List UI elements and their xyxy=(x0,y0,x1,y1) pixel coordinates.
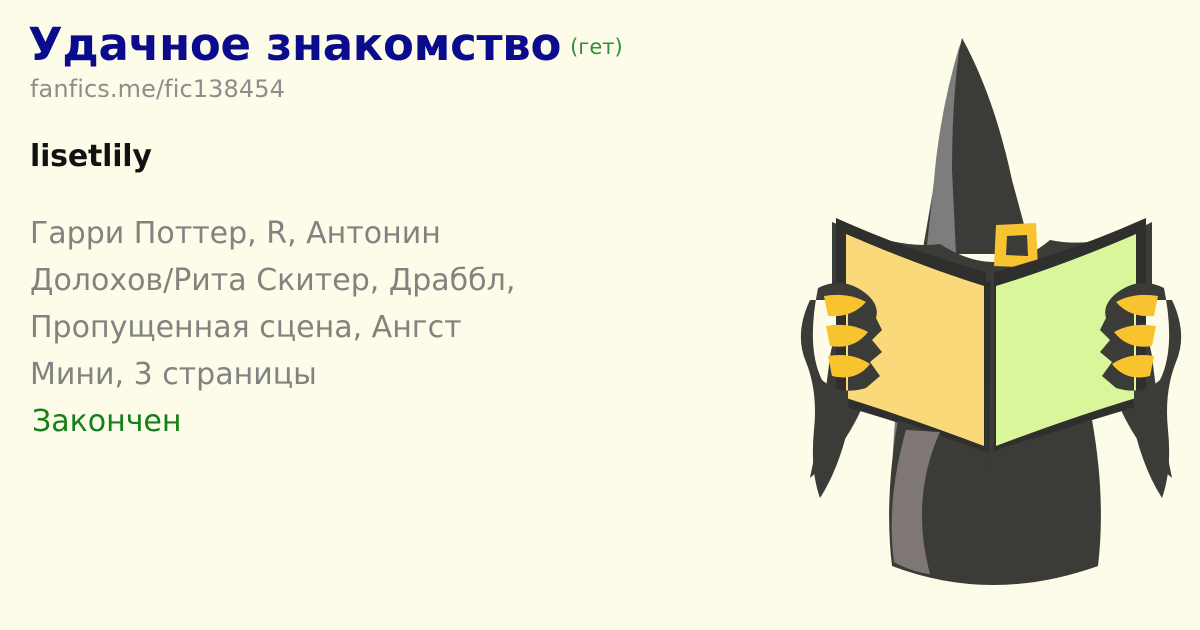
fic-category-label: (гет) xyxy=(570,35,623,59)
status-badge: Закончен xyxy=(32,398,768,445)
wizard-illustration-svg xyxy=(780,0,1200,630)
title-row: Удачное знакомство(гет) xyxy=(28,22,768,69)
page-title: Удачное знакомство xyxy=(28,18,561,71)
fic-meta-line: Пропущенная сцена, Ангст xyxy=(30,304,768,351)
hat-buckle-hole xyxy=(1006,235,1028,256)
wizard-reading-book-illustration xyxy=(780,0,1200,630)
fic-meta-line: Гарри Поттер, R, Антонин xyxy=(30,210,768,257)
hat-buckle-group xyxy=(994,223,1038,268)
fic-meta-line: Мини, 3 страницы xyxy=(30,351,768,398)
fic-metadata-block: Гарри Поттер, R, Антонин Долохов/Рита Ск… xyxy=(30,210,768,445)
fic-author-name[interactable]: lisetlily xyxy=(30,139,768,174)
fic-url[interactable]: fanfics.me/fic138454 xyxy=(30,75,768,103)
fic-meta-line: Долохов/Рита Скитер, Драббл, xyxy=(30,257,768,304)
fanfic-preview-card: Удачное знакомство(гет) fanfics.me/fic13… xyxy=(0,0,1200,630)
fic-info-column: Удачное знакомство(гет) fanfics.me/fic13… xyxy=(28,22,768,445)
